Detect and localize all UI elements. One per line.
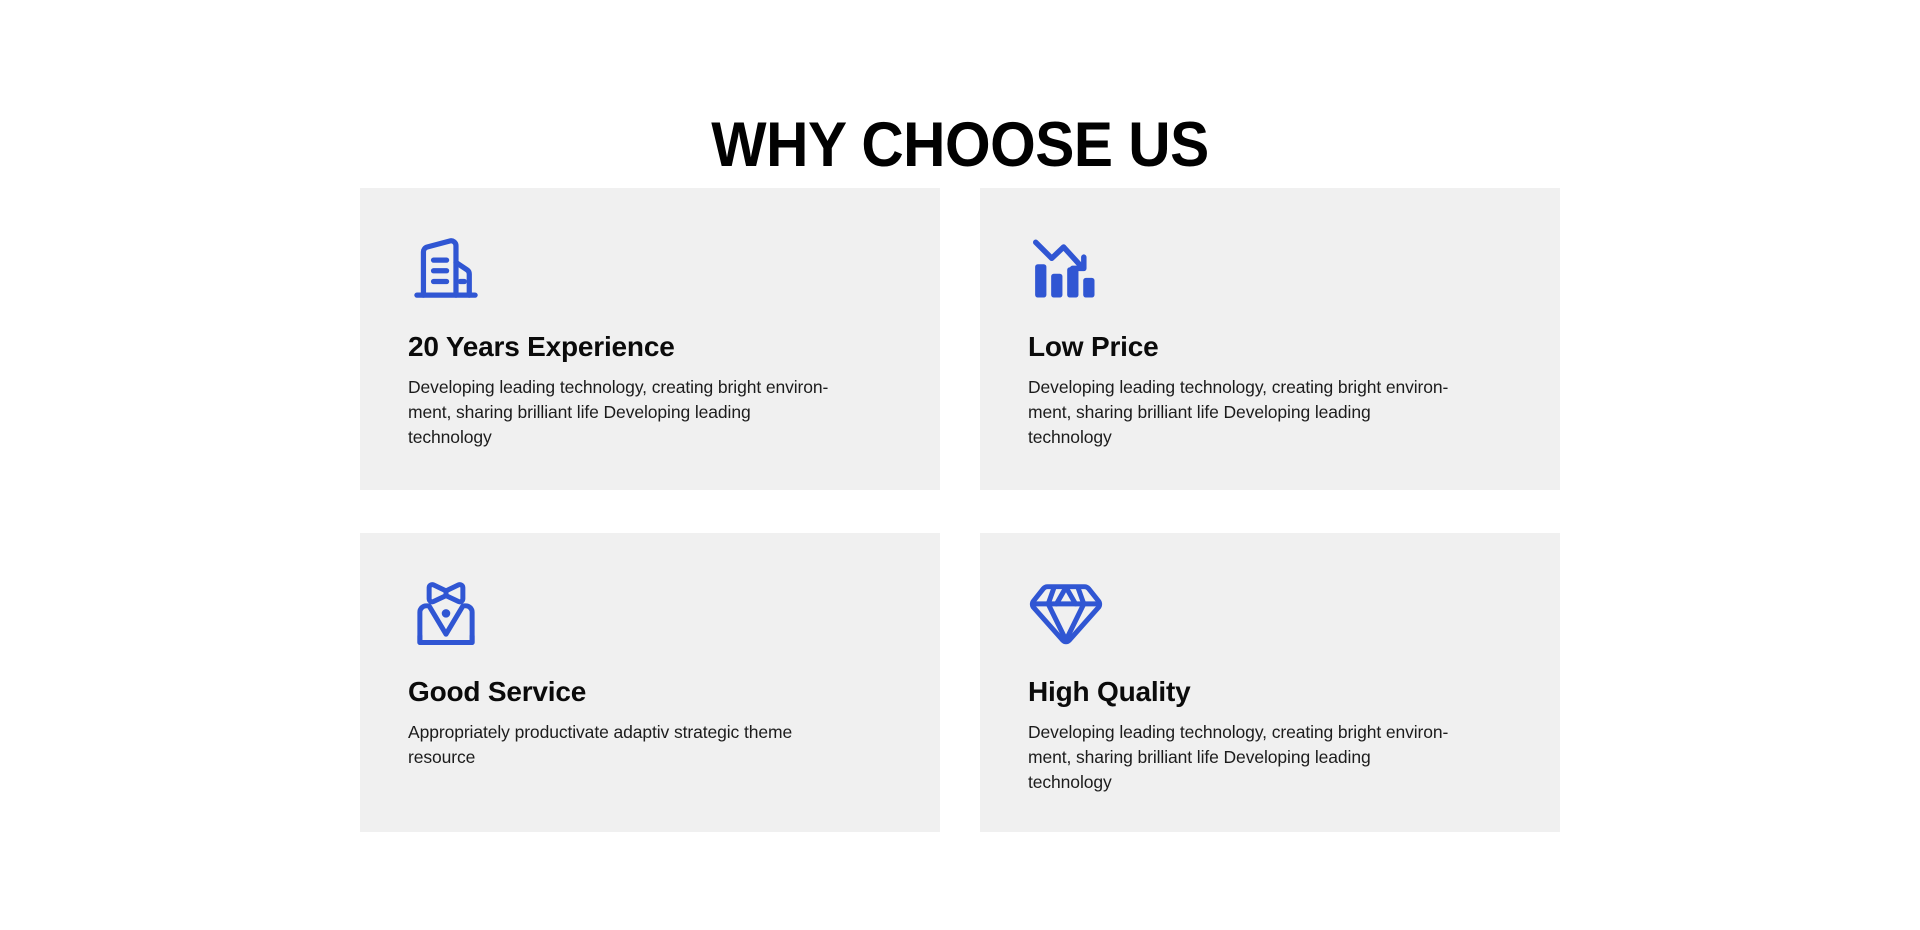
feature-card-good-service[interactable]: Good Service Appropriately productivate …	[360, 533, 940, 832]
diamond-icon	[1028, 576, 1104, 652]
feature-card-20-years-experience[interactable]: 20 Years Experience Developing leading t…	[360, 188, 940, 490]
feature-card-high-quality[interactable]: High Quality Developing leading technolo…	[980, 533, 1560, 832]
feature-card-low-price[interactable]: Low Price Developing leading technology,…	[980, 188, 1560, 490]
declining-bar-chart-icon	[1028, 231, 1104, 307]
feature-cards-grid: 20 Years Experience Developing leading t…	[360, 188, 1560, 832]
card-title: High Quality	[1028, 676, 1512, 708]
card-title: 20 Years Experience	[408, 331, 892, 363]
card-description: Developing leading technology, creating …	[1028, 720, 1458, 795]
why-choose-us-section: WHY CHOOSE US 20 Years Experience Develo…	[0, 0, 1920, 930]
card-description: Developing leading technology, creating …	[1028, 375, 1458, 450]
card-description: Appropriately productivate adaptiv strat…	[408, 720, 838, 770]
card-title: Low Price	[1028, 331, 1512, 363]
page-title: WHY CHOOSE US	[67, 114, 1853, 177]
card-description: Developing leading technology, creating …	[408, 375, 838, 450]
building-icon	[408, 231, 484, 307]
bow-tie-suit-icon	[408, 576, 484, 652]
card-title: Good Service	[408, 676, 892, 708]
